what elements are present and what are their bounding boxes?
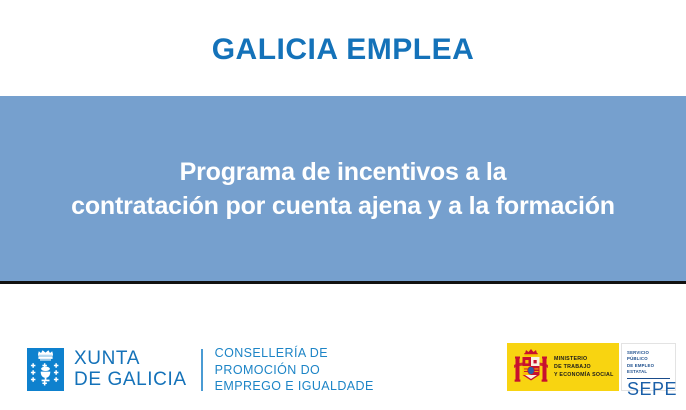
footer-logos: XUNTA DE GALICIA CONSELLERÍA DE PROMOCIÓ… bbox=[0, 287, 686, 410]
page-title: GALICIA EMPLEA bbox=[212, 31, 475, 65]
xunta-wordmark-line-1: XUNTA bbox=[74, 349, 187, 370]
ministry-line-2: DE TRABAJO bbox=[554, 363, 614, 371]
ministerio-de-trabajo-logo: MINISTERIO DE TRABAJO Y ECONOMÍA SOCIAL bbox=[507, 343, 619, 391]
sepe-logo: SERVICIO PÚBLICO DE EMPLEO ESTATAL SEPE bbox=[621, 343, 676, 391]
conselleria-line-1: CONSELLERÍA DE bbox=[215, 345, 374, 362]
conselleria-line-2: PROMOCIÓN DO bbox=[215, 362, 374, 379]
sepe-tagline: SERVICIO PÚBLICO DE EMPLEO ESTATAL bbox=[627, 350, 670, 376]
spain-coat-of-arms-icon bbox=[513, 346, 549, 388]
ministry-line-1: MINISTERIO bbox=[554, 355, 614, 363]
sepe-tagline-line-2: DE EMPLEO ESTATAL bbox=[627, 363, 670, 376]
conselleria-line-3: EMPREGO E IGUALDADE bbox=[215, 378, 374, 395]
ministry-line-3: Y ECONOMÍA SOCIAL bbox=[554, 371, 614, 379]
xunta-de-galicia-coat-of-arms-icon bbox=[27, 348, 64, 391]
xunta-de-galicia-logo: XUNTA DE GALICIA CONSELLERÍA DE PROMOCIÓ… bbox=[27, 345, 374, 395]
banner-text-line-2: contratación por cuenta ajena y a la for… bbox=[71, 189, 615, 223]
banner-text-line-1: Programa de incentivos a la bbox=[71, 155, 615, 189]
sepe-tagline-line-1: SERVICIO PÚBLICO bbox=[627, 350, 670, 363]
program-banner: Programa de incentivos a la contratación… bbox=[0, 96, 686, 284]
xunta-wordmark-line-2: DE GALICIA bbox=[74, 370, 187, 391]
ministry-wordmark: MINISTERIO DE TRABAJO Y ECONOMÍA SOCIAL bbox=[554, 355, 614, 379]
banner-text: Programa de incentivos a la contratación… bbox=[57, 155, 629, 223]
xunta-wordmark: XUNTA DE GALICIA bbox=[74, 349, 187, 390]
logo-divider bbox=[201, 349, 203, 391]
header-zone: GALICIA EMPLEA bbox=[0, 0, 686, 96]
sepe-acronym: SEPE bbox=[627, 380, 670, 400]
conselleria-wordmark: CONSELLERÍA DE PROMOCIÓN DO EMPREGO E IG… bbox=[215, 345, 374, 395]
